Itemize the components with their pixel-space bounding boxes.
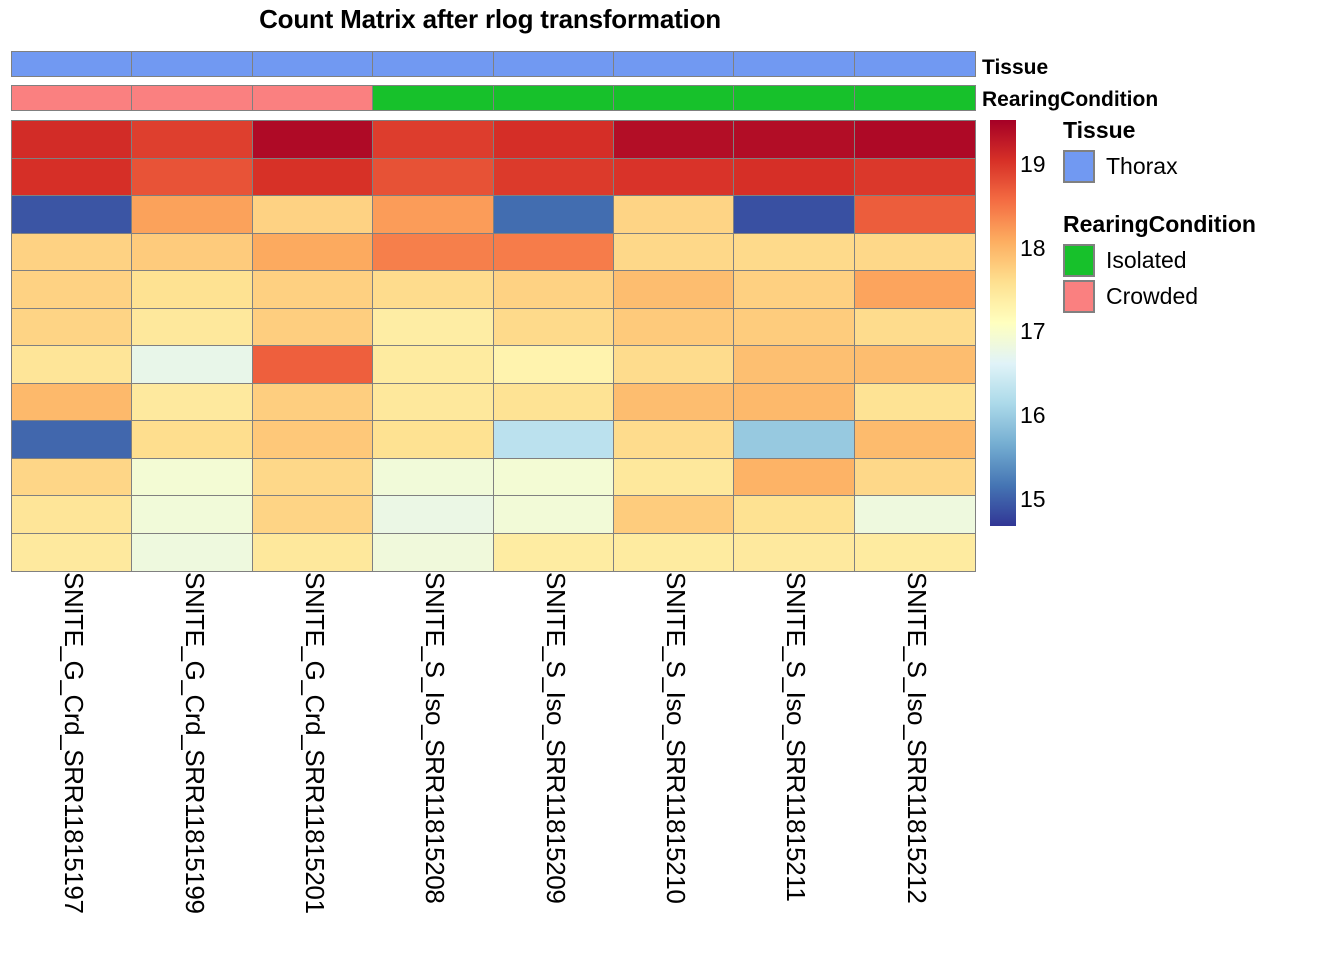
heatmap-cell-r1-c2[interactable]	[252, 158, 374, 197]
heatmap-cell-r0-c3[interactable]	[372, 120, 494, 159]
heatmap-cell-r0-c7[interactable]	[854, 120, 976, 159]
heatmap-cell-r7-c5[interactable]	[613, 383, 735, 422]
heatmap-cell-r8-c3[interactable]	[372, 420, 494, 459]
annotation-cell-tissue-0	[11, 51, 133, 77]
heatmap-cell-r8-c7[interactable]	[854, 420, 976, 459]
heatmap-cell-r9-c7[interactable]	[854, 458, 976, 497]
heatmap-cell-r9-c6[interactable]	[733, 458, 855, 497]
annotation-cell-rearingcondition-6	[733, 85, 855, 111]
heatmap-cell-r1-c5[interactable]	[613, 158, 735, 197]
heatmap-cell-r9-c0[interactable]	[11, 458, 133, 497]
heatmap-cell-r11-c5[interactable]	[613, 533, 735, 572]
annotation-bar-rearingcondition	[11, 85, 974, 111]
annotation-cell-rearingcondition-2	[252, 85, 374, 111]
annotation-cell-rearingcondition-4	[493, 85, 615, 111]
heatmap-cell-r0-c5[interactable]	[613, 120, 735, 159]
column-label-slot-0: SNITE_G_Crd_SRR11815197	[11, 572, 131, 958]
heatmap-cell-r3-c0[interactable]	[11, 233, 133, 272]
column-label-slot-6: SNITE_S_Iso_SRR11815211	[733, 572, 853, 958]
heatmap-cell-r7-c1[interactable]	[131, 383, 253, 422]
column-label-0: SNITE_G_Crd_SRR11815197	[61, 572, 87, 914]
heatmap-cell-r3-c7[interactable]	[854, 233, 976, 272]
heatmap-cell-r0-c0[interactable]	[11, 120, 133, 159]
annotation-cell-rearingcondition-3	[372, 85, 494, 111]
heatmap-cell-r9-c5[interactable]	[613, 458, 735, 497]
heatmap-cell-r3-c4[interactable]	[493, 233, 615, 272]
heatmap-cell-r10-c3[interactable]	[372, 495, 494, 534]
heatmap-row	[11, 270, 974, 308]
annotation-cell-rearingcondition-7	[854, 85, 976, 111]
heatmap-cell-r8-c2[interactable]	[252, 420, 374, 459]
heatmap-cell-r2-c3[interactable]	[372, 195, 494, 234]
legend-tissue: Tissue Thorax	[1063, 117, 1178, 184]
heatmap-row	[11, 533, 974, 571]
heatmap-cell-r4-c5[interactable]	[613, 270, 735, 309]
legend-label-isolated: Isolated	[1106, 249, 1187, 272]
heatmap-cell-r11-c1[interactable]	[131, 533, 253, 572]
annotation-cell-tissue-6	[733, 51, 855, 77]
heatmap-cell-r11-c0[interactable]	[11, 533, 133, 572]
heatmap-cell-r5-c0[interactable]	[11, 308, 133, 347]
legend-rearingcondition: RearingCondition Isolated Crowded	[1063, 211, 1256, 314]
legend-entry-isolated[interactable]: Isolated	[1063, 242, 1256, 278]
legend-entry-thorax[interactable]: Thorax	[1063, 148, 1178, 184]
heatmap-row	[11, 195, 974, 233]
heatmap-cell-r5-c1[interactable]	[131, 308, 253, 347]
heatmap-cell-r7-c2[interactable]	[252, 383, 374, 422]
heatmap-cell-r6-c7[interactable]	[854, 345, 976, 384]
legend-swatch-crowded	[1063, 280, 1095, 313]
heatmap-cell-r2-c7[interactable]	[854, 195, 976, 234]
column-label-1: SNITE_G_Crd_SRR11815199	[182, 572, 208, 914]
heatmap-cell-r9-c1[interactable]	[131, 458, 253, 497]
colorbar-gradient	[990, 120, 1016, 526]
heatmap-cell-r0-c4[interactable]	[493, 120, 615, 159]
heatmap-cell-r3-c5[interactable]	[613, 233, 735, 272]
annotation-bar-tissue	[11, 51, 974, 77]
heatmap-row	[11, 233, 974, 271]
heatmap-cell-r1-c7[interactable]	[854, 158, 976, 197]
heatmap-cell-r0-c1[interactable]	[131, 120, 253, 159]
heatmap-cell-r8-c4[interactable]	[493, 420, 615, 459]
heatmap-cell-r6-c2[interactable]	[252, 345, 374, 384]
annotation-cell-tissue-7	[854, 51, 976, 77]
column-label-slot-1: SNITE_G_Crd_SRR11815199	[131, 572, 251, 958]
heatmap-cell-r6-c0[interactable]	[11, 345, 133, 384]
legend-label-thorax: Thorax	[1106, 155, 1178, 178]
heatmap-cell-r2-c4[interactable]	[493, 195, 615, 234]
heatmap-cell-r2-c0[interactable]	[11, 195, 133, 234]
colorbar-tick-17: 17	[1020, 320, 1046, 343]
column-label-7: SNITE_S_Iso_SRR11815212	[904, 572, 930, 903]
column-label-axis: SNITE_G_Crd_SRR11815197SNITE_G_Crd_SRR11…	[11, 572, 974, 958]
heatmap-cell-r1-c1[interactable]	[131, 158, 253, 197]
column-label-slot-7: SNITE_S_Iso_SRR11815212	[854, 572, 974, 958]
heatmap-cell-r11-c3[interactable]	[372, 533, 494, 572]
heatmap-cell-r3-c6[interactable]	[733, 233, 855, 272]
column-label-slot-3: SNITE_S_Iso_SRR11815208	[372, 572, 492, 958]
heatmap-cell-r4-c3[interactable]	[372, 270, 494, 309]
annotation-bar-label-rearingcondition: RearingCondition	[982, 89, 1158, 111]
heatmap-cell-r11-c2[interactable]	[252, 533, 374, 572]
heatmap-cell-r10-c4[interactable]	[493, 495, 615, 534]
annotation-cell-tissue-2	[252, 51, 374, 77]
heatmap-cell-r1-c0[interactable]	[11, 158, 133, 197]
heatmap-row	[11, 308, 974, 346]
heatmap-cell-r8-c0[interactable]	[11, 420, 133, 459]
heatmap-cell-r6-c4[interactable]	[493, 345, 615, 384]
heatmap-row	[11, 158, 974, 196]
heatmap-cell-r2-c1[interactable]	[131, 195, 253, 234]
heatmap-cell-r10-c7[interactable]	[854, 495, 976, 534]
heatmap-row	[11, 495, 974, 533]
colorbar-legend: 1918171615	[990, 120, 1016, 526]
legend-title-tissue: Tissue	[1063, 117, 1178, 143]
colorbar-tick-15: 15	[1020, 488, 1046, 511]
annotation-cell-rearingcondition-0	[11, 85, 133, 111]
annotation-cell-tissue-3	[372, 51, 494, 77]
heatmap-cell-r4-c4[interactable]	[493, 270, 615, 309]
annotation-cell-tissue-4	[493, 51, 615, 77]
heatmap-cell-r10-c1[interactable]	[131, 495, 253, 534]
heatmap-cell-r6-c3[interactable]	[372, 345, 494, 384]
heatmap-cell-r8-c1[interactable]	[131, 420, 253, 459]
heatmap-cell-r4-c6[interactable]	[733, 270, 855, 309]
heatmap-grid	[11, 120, 974, 570]
heatmap-row	[11, 345, 974, 383]
colorbar-tick-16: 16	[1020, 404, 1046, 427]
heatmap-cell-r6-c6[interactable]	[733, 345, 855, 384]
legend-swatch-isolated	[1063, 244, 1095, 277]
heatmap-cell-r3-c1[interactable]	[131, 233, 253, 272]
column-label-slot-4: SNITE_S_Iso_SRR11815209	[493, 572, 613, 958]
heatmap-cell-r8-c5[interactable]	[613, 420, 735, 459]
heatmap-cell-r11-c6[interactable]	[733, 533, 855, 572]
heatmap-cell-r5-c6[interactable]	[733, 308, 855, 347]
heatmap-cell-r7-c6[interactable]	[733, 383, 855, 422]
heatmap-row	[11, 383, 974, 421]
heatmap-cell-r10-c5[interactable]	[613, 495, 735, 534]
heatmap-cell-r4-c2[interactable]	[252, 270, 374, 309]
heatmap-cell-r2-c5[interactable]	[613, 195, 735, 234]
heatmap-cell-r2-c2[interactable]	[252, 195, 374, 234]
annotation-bar-label-tissue: Tissue	[982, 57, 1048, 79]
page-title: Count Matrix after rlog transformation	[0, 2, 980, 36]
heatmap-cell-r7-c0[interactable]	[11, 383, 133, 422]
heatmap-cell-r1-c6[interactable]	[733, 158, 855, 197]
heatmap-cell-r9-c2[interactable]	[252, 458, 374, 497]
heatmap-cell-r7-c4[interactable]	[493, 383, 615, 422]
annotation-cell-rearingcondition-5	[613, 85, 735, 111]
heatmap-cell-r11-c7[interactable]	[854, 533, 976, 572]
heatmap-cell-r1-c4[interactable]	[493, 158, 615, 197]
heatmap-cell-r9-c3[interactable]	[372, 458, 494, 497]
heatmap-cell-r3-c3[interactable]	[372, 233, 494, 272]
column-label-2: SNITE_G_Crd_SRR11815201	[302, 572, 328, 914]
heatmap-cell-r2-c6[interactable]	[733, 195, 855, 234]
annotation-cell-rearingcondition-1	[131, 85, 253, 111]
heatmap-cell-r3-c2[interactable]	[252, 233, 374, 272]
annotation-cell-tissue-5	[613, 51, 735, 77]
heatmap-cell-r5-c2[interactable]	[252, 308, 374, 347]
heatmap-cell-r5-c7[interactable]	[854, 308, 976, 347]
colorbar-tick-18: 18	[1020, 237, 1046, 260]
heatmap-cell-r5-c3[interactable]	[372, 308, 494, 347]
annotation-cell-tissue-1	[131, 51, 253, 77]
heatmap-cell-r5-c5[interactable]	[613, 308, 735, 347]
heatmap-cell-r8-c6[interactable]	[733, 420, 855, 459]
heatmap-cell-r6-c5[interactable]	[613, 345, 735, 384]
heatmap-cell-r1-c3[interactable]	[372, 158, 494, 197]
heatmap-cell-r9-c4[interactable]	[493, 458, 615, 497]
heatmap-row	[11, 120, 974, 158]
heatmap-cell-r7-c3[interactable]	[372, 383, 494, 422]
column-label-slot-5: SNITE_S_Iso_SRR11815210	[613, 572, 733, 958]
heatmap-cell-r7-c7[interactable]	[854, 383, 976, 422]
heatmap-cell-r4-c0[interactable]	[11, 270, 133, 309]
column-label-4: SNITE_S_Iso_SRR11815209	[543, 572, 569, 903]
column-label-slot-2: SNITE_G_Crd_SRR11815201	[252, 572, 372, 958]
legend-label-crowded: Crowded	[1106, 285, 1198, 308]
heatmap-cell-r0-c6[interactable]	[733, 120, 855, 159]
heatmap-cell-r4-c1[interactable]	[131, 270, 253, 309]
heatmap-cell-r10-c6[interactable]	[733, 495, 855, 534]
heatmap-cell-r4-c7[interactable]	[854, 270, 976, 309]
heatmap-cell-r10-c0[interactable]	[11, 495, 133, 534]
legend-entry-crowded[interactable]: Crowded	[1063, 278, 1256, 314]
column-label-3: SNITE_S_Iso_SRR11815208	[422, 572, 448, 903]
heatmap-cell-r10-c2[interactable]	[252, 495, 374, 534]
heatmap-cell-r5-c4[interactable]	[493, 308, 615, 347]
column-label-5: SNITE_S_Iso_SRR11815210	[663, 572, 689, 903]
column-label-6: SNITE_S_Iso_SRR11815211	[784, 572, 810, 902]
heatmap-row	[11, 420, 974, 458]
heatmap-cell-r6-c1[interactable]	[131, 345, 253, 384]
legend-title-rearingcondition: RearingCondition	[1063, 211, 1256, 237]
heatmap-cell-r11-c4[interactable]	[493, 533, 615, 572]
heatmap-row	[11, 458, 974, 496]
colorbar-tick-19: 19	[1020, 153, 1046, 176]
legend-swatch-thorax	[1063, 150, 1095, 183]
heatmap-cell-r0-c2[interactable]	[252, 120, 374, 159]
